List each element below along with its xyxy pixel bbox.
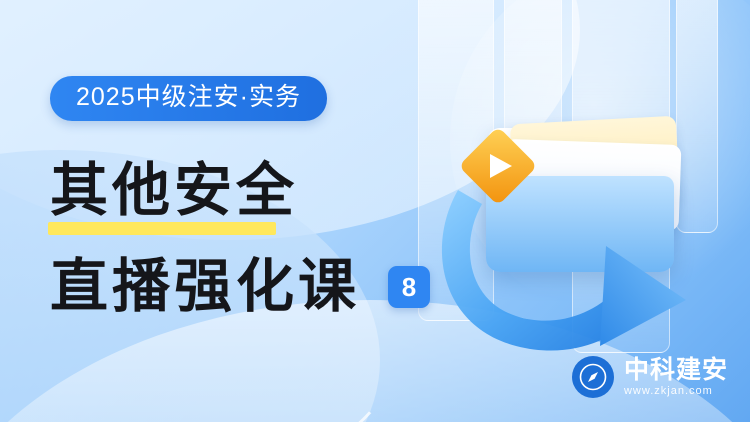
brand-logo-text: 中科建安 www.zkjan.com [624, 357, 728, 398]
course-banner: 2025中级注安·实务 其他安全 直播强化课 8 中科建安 www.zkjan.… [0, 0, 750, 422]
brand-name: 中科建安 [624, 357, 728, 383]
page-title-line-2: 直播强化课 [50, 258, 360, 316]
episode-badge: 8 [388, 266, 430, 308]
brand-logo: 中科建安 www.zkjan.com [572, 356, 728, 398]
compass-icon [572, 356, 614, 398]
course-category-badge: 2025中级注安·实务 [50, 76, 327, 121]
page-title-line-1: 其他安全 [50, 162, 298, 220]
brand-url: www.zkjan.com [624, 386, 728, 398]
diamond-play-icon [456, 124, 540, 208]
title-underline-highlight [48, 222, 276, 235]
